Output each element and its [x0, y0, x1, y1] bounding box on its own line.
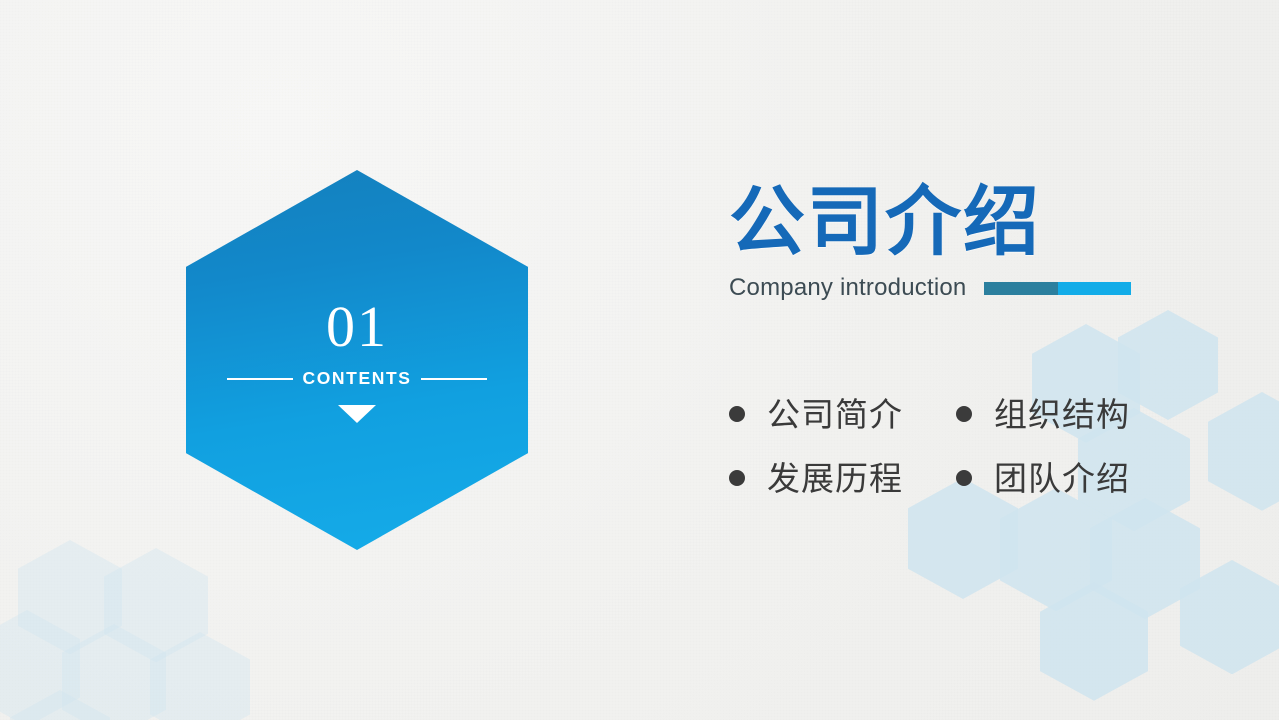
- decorative-hexagon: [18, 540, 122, 654]
- accent-bar-left: [984, 282, 1058, 295]
- contents-label-row: CONTENTS: [227, 368, 487, 389]
- decorative-hexagon: [0, 610, 80, 720]
- header-block: 公司介绍 Company introduction: [729, 186, 1249, 302]
- agenda-list: 公司简介组织结构发展历程团队介绍: [729, 382, 1189, 510]
- bullet-dot-icon: [956, 470, 972, 486]
- agenda-item-label: 团队介绍: [994, 462, 1130, 495]
- agenda-item-label: 公司简介: [767, 398, 903, 431]
- section-number-hexagon[interactable]: 01 CONTENTS: [186, 170, 528, 550]
- rule-left: [227, 378, 293, 380]
- slide-canvas: 01 CONTENTS 公司介绍 Company introduction 公司…: [0, 0, 1279, 720]
- decorative-hexagon: [10, 690, 110, 720]
- agenda-item[interactable]: 团队介绍: [956, 446, 1171, 510]
- bullet-dot-icon: [956, 406, 972, 422]
- accent-bar: [984, 282, 1131, 295]
- decorative-hexagon: [1180, 560, 1279, 674]
- decorative-hexagon: [1040, 582, 1148, 701]
- agenda-item-label: 组织结构: [994, 398, 1130, 431]
- rule-right: [421, 378, 487, 380]
- page-title: 公司介绍: [729, 186, 1249, 260]
- decorative-hexagon: [1090, 498, 1200, 619]
- triangle-down-icon: [338, 405, 376, 423]
- agenda-item[interactable]: 公司简介: [729, 382, 944, 446]
- decorative-hexagon: [150, 632, 250, 720]
- agenda-item[interactable]: 组织结构: [956, 382, 1171, 446]
- decorative-hexagon: [62, 624, 166, 720]
- subtitle-row: Company introduction: [729, 274, 1249, 302]
- bullet-dot-icon: [729, 470, 745, 486]
- agenda-item[interactable]: 发展历程: [729, 446, 944, 510]
- page-subtitle: Company introduction: [729, 274, 966, 302]
- accent-bar-right: [1058, 282, 1132, 295]
- decorative-hexagon: [1208, 392, 1279, 511]
- contents-label: CONTENTS: [302, 368, 411, 389]
- agenda-item-label: 发展历程: [767, 462, 903, 495]
- section-number: 01: [326, 298, 388, 356]
- bullet-dot-icon: [729, 406, 745, 422]
- decorative-hexagon: [104, 548, 208, 662]
